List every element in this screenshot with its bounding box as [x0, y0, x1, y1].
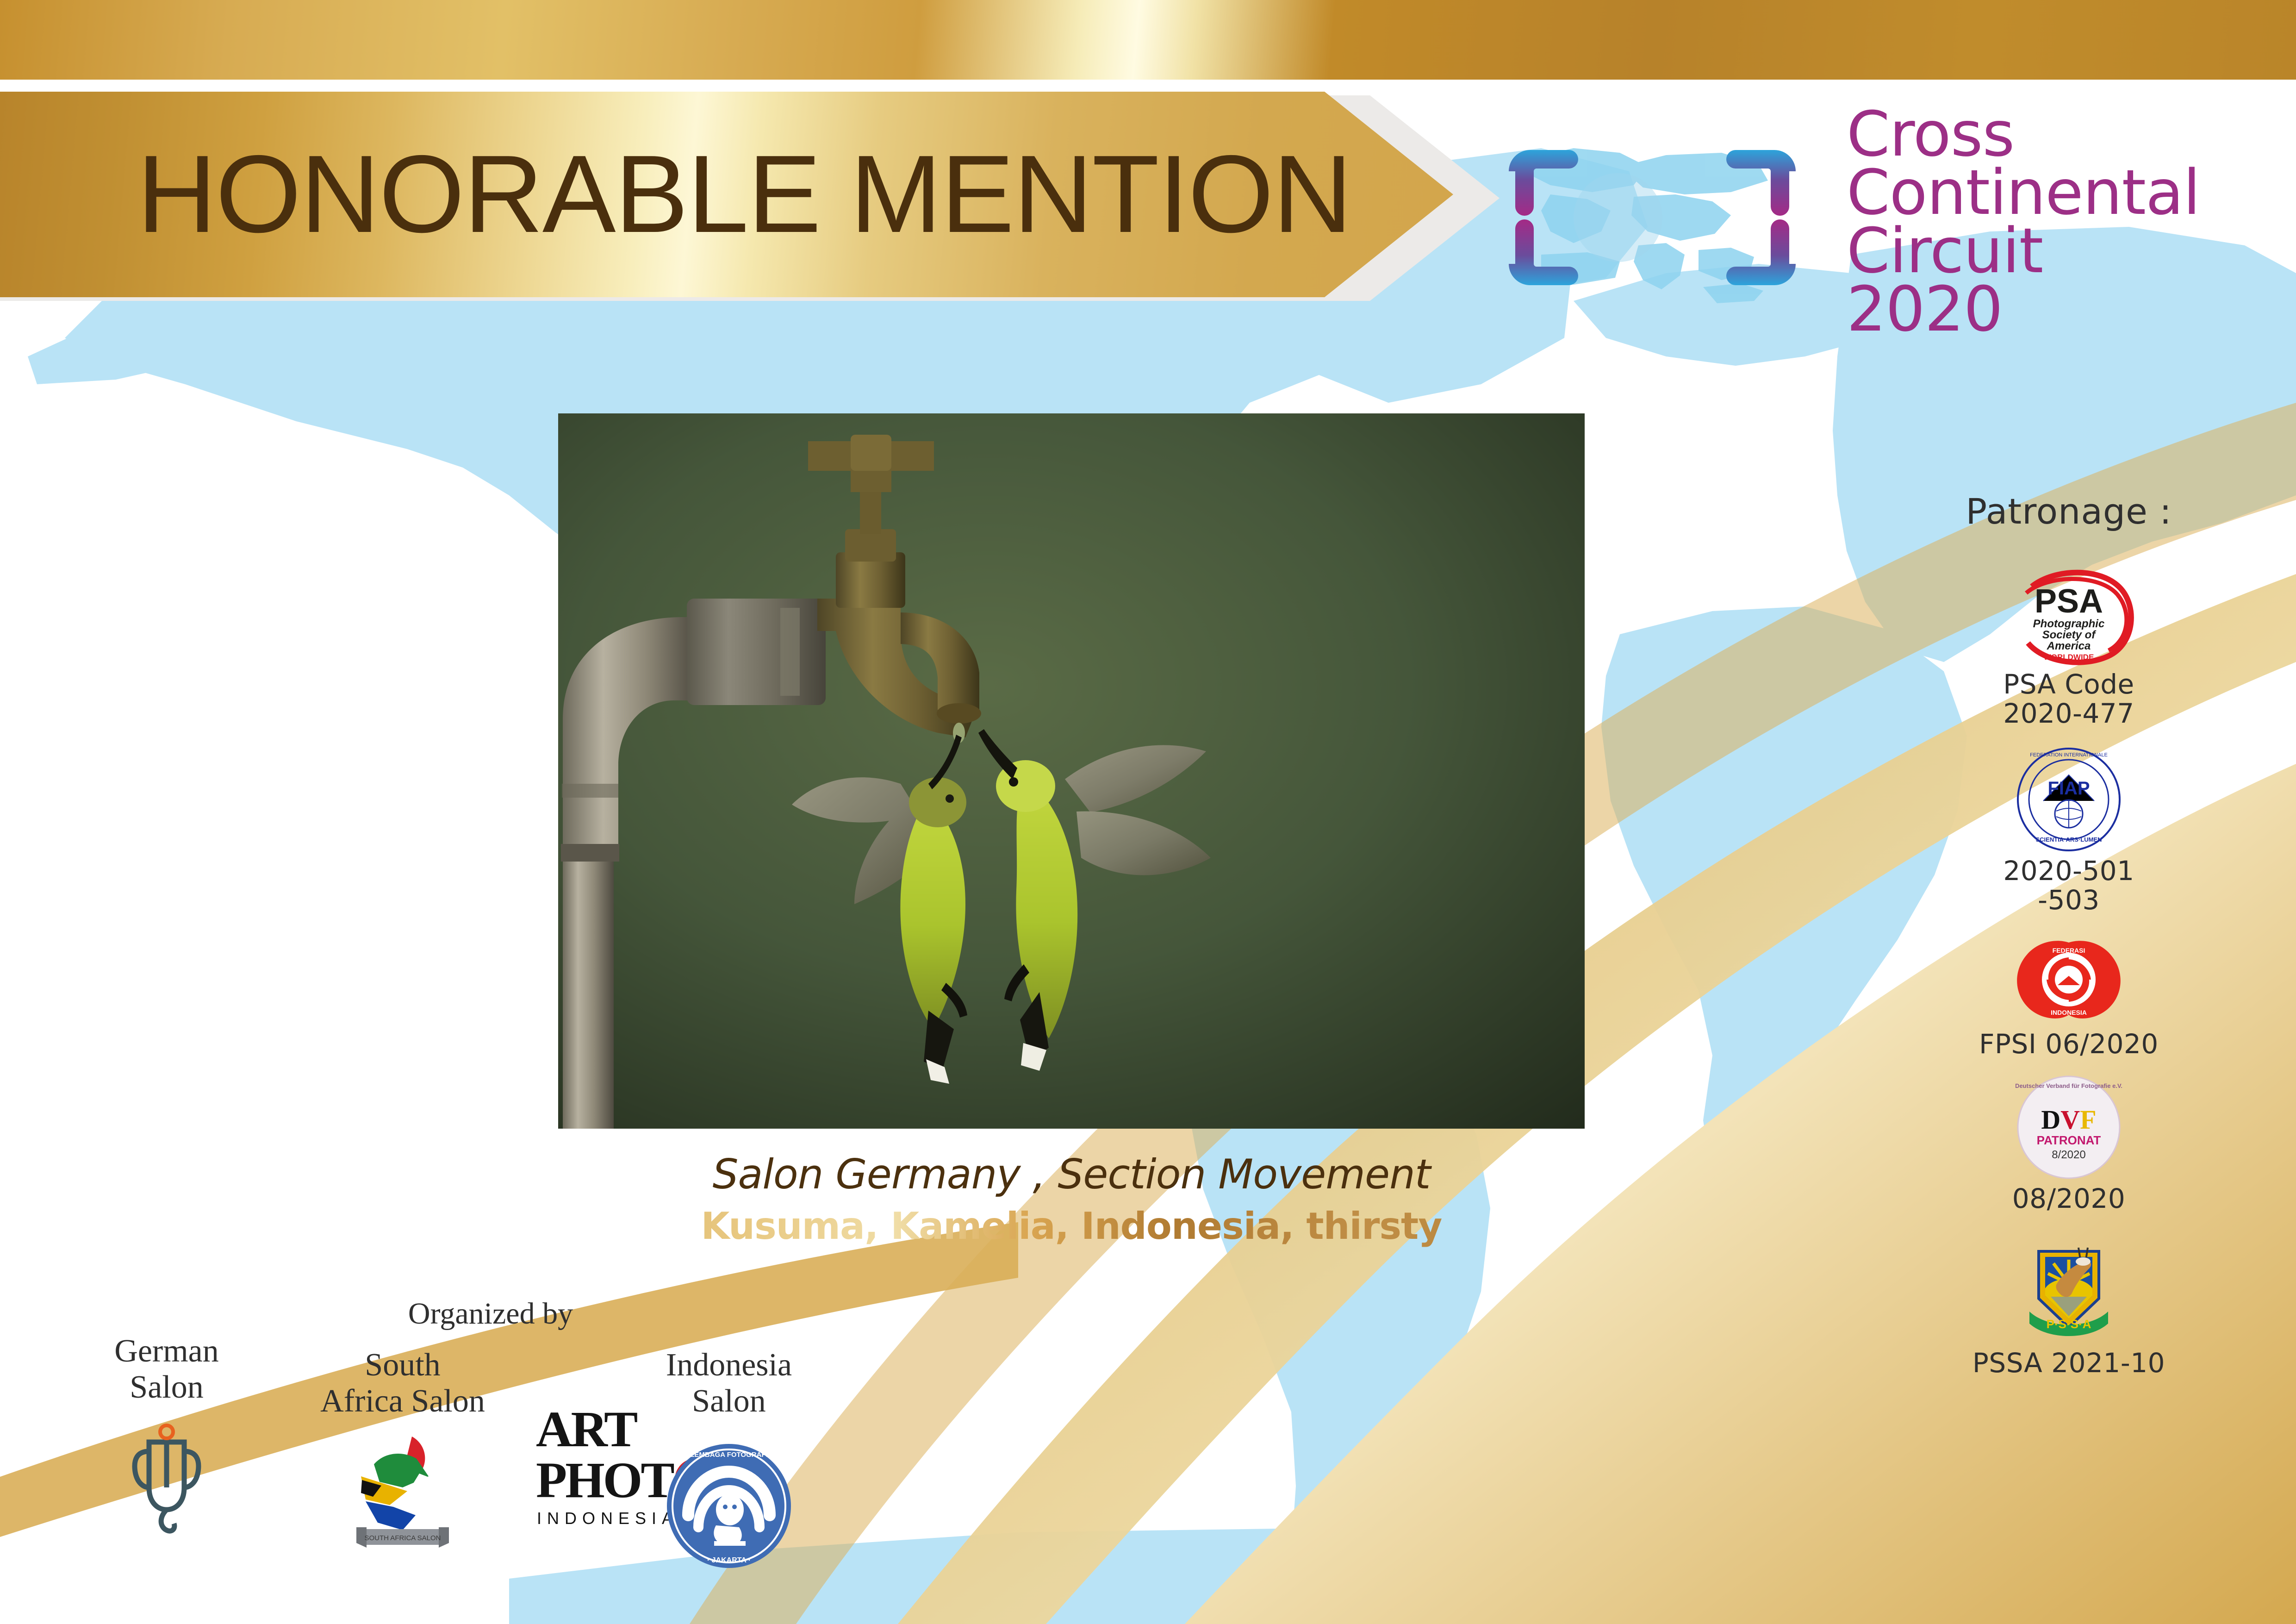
dvf-logo-icon: DVF PATRONAT 8/2020 Deutscher Verband fü… [2016, 1074, 2122, 1181]
svg-text:WORLDWIDE: WORLDWIDE [2044, 653, 2094, 662]
award-title: HONORABLE MENTION [0, 92, 1342, 297]
awarded-photograph [558, 413, 1585, 1129]
dvf-code-label: 08/2020 [1948, 1184, 2189, 1213]
brand-line-3: Circuit [1847, 222, 2200, 281]
svg-text:Society of: Society of [2042, 629, 2097, 641]
pssa-logo-icon: P·S·S·A [2011, 1229, 2127, 1345]
certificate-page: HONORABLE MENTION [0, 0, 2296, 1624]
cross-continental-circuit-logo: Cross Continental Circuit 2020 [1481, 116, 2259, 329]
svg-text:SOUTH AFRICA SALON: SOUTH AFRICA SALON [364, 1534, 441, 1542]
organizer-label-south-africa: South Africa Salon [287, 1347, 518, 1420]
patronage-item-fiap: FIAP SCIENTIA·ARS·LUMEN FEDERATION INTER… [1948, 746, 2189, 914]
svg-text:DVF: DVF [2041, 1105, 2096, 1135]
world-map-camera-brackets-icon [1481, 116, 1823, 319]
fpsi-logo-icon: FEDERASI INDONESIA [2004, 933, 2134, 1026]
svg-text:LEMBAGA FOTOGRAFI: LEMBAGA FOTOGRAFI [690, 1451, 768, 1459]
svg-text:Deutscher Verband für Fotograf: Deutscher Verband für Fotografie e.V. [2016, 1082, 2122, 1089]
organizer-german-salon: German Salon [69, 1333, 264, 1546]
photo-caption: Salon Germany , Section Movement Kusuma,… [558, 1150, 1585, 1248]
patronage-item-pssa: P·S·S·A PSSA 2021-10 [1948, 1229, 2189, 1378]
brand-line-1: Cross [1847, 106, 2200, 164]
caption-salon-section: Salon Germany , Section Movement [558, 1150, 1585, 1198]
svg-text:SCIENTIA·ARS·LUMEN: SCIENTIA·ARS·LUMEN [2036, 836, 2102, 843]
organized-by-heading: Organized by [342, 1296, 639, 1331]
svg-text:P·S·S·A: P·S·S·A [2047, 1317, 2091, 1331]
pssa-code-label: PSSA 2021-10 [1948, 1349, 2189, 1378]
patronage-item-dvf: DVF PATRONAT 8/2020 Deutscher Verband fü… [1948, 1074, 2189, 1213]
german-salon-trophy-icon [69, 1418, 264, 1546]
svg-text:8/2020: 8/2020 [2052, 1149, 2085, 1161]
patronage-column: Patronage : PSA Photographic Society of … [1948, 491, 2189, 1386]
lembaga-fotografi-candra-naya-icon: LEMBAGA FOTOGRAFI · JAKARTA · [622, 1441, 835, 1579]
patronage-heading: Patronage : [1948, 491, 2189, 532]
brand-line-2: Continental [1847, 164, 2200, 222]
fpsi-code-label: FPSI 06/2020 [1948, 1030, 2189, 1059]
caption-author-title: Kusuma, Kamelia, Indonesia, thirsty [558, 1205, 1585, 1248]
brand-line-4: 2020 [1847, 281, 2200, 339]
fiap-logo-icon: FIAP SCIENTIA·ARS·LUMEN FEDERATION INTER… [2016, 746, 2122, 853]
brand-wordmark: Cross Continental Circuit 2020 [1847, 106, 2200, 339]
patronage-item-psa: PSA Photographic Society of America WORL… [1948, 564, 2189, 728]
top-gold-bar [0, 0, 2296, 80]
svg-text:PSA: PSA [2035, 583, 2103, 620]
svg-text:FEDERATION INTERNATIONALE: FEDERATION INTERNATIONALE [2030, 752, 2108, 758]
svg-text:FEDERASI: FEDERASI [2053, 947, 2085, 954]
south-africa-salon-crest-icon: SOUTH AFRICA SALON [287, 1432, 518, 1560]
psa-code-label: PSA Code 2020-477 [1948, 670, 2189, 728]
organizer-label-german: German Salon [69, 1333, 264, 1406]
fiap-code-label: 2020-501 -503 [1948, 856, 2189, 914]
svg-text:PATRONAT: PATRONAT [2037, 1133, 2101, 1147]
svg-text:FIAP: FIAP [2047, 778, 2090, 799]
organizer-south-africa-salon: South Africa Salon SOUTH AFRICA SALON [287, 1347, 518, 1560]
svg-text:· JAKARTA ·: · JAKARTA · [707, 1556, 751, 1564]
svg-text:America: America [2047, 640, 2091, 652]
psa-logo-icon: PSA Photographic Society of America WORL… [1999, 564, 2138, 666]
svg-text:INDONESIA: INDONESIA [2051, 1009, 2087, 1016]
svg-text:Photographic: Photographic [2033, 618, 2105, 630]
patronage-item-fpsi: FEDERASI INDONESIA FPSI 06/2020 [1948, 933, 2189, 1059]
organizer-indonesia-salon: Indonesia Salon LEMBAGA FOTOGRAFI · JAKA… [622, 1347, 835, 1579]
organizer-label-indonesia: Indonesia Salon [622, 1347, 835, 1420]
